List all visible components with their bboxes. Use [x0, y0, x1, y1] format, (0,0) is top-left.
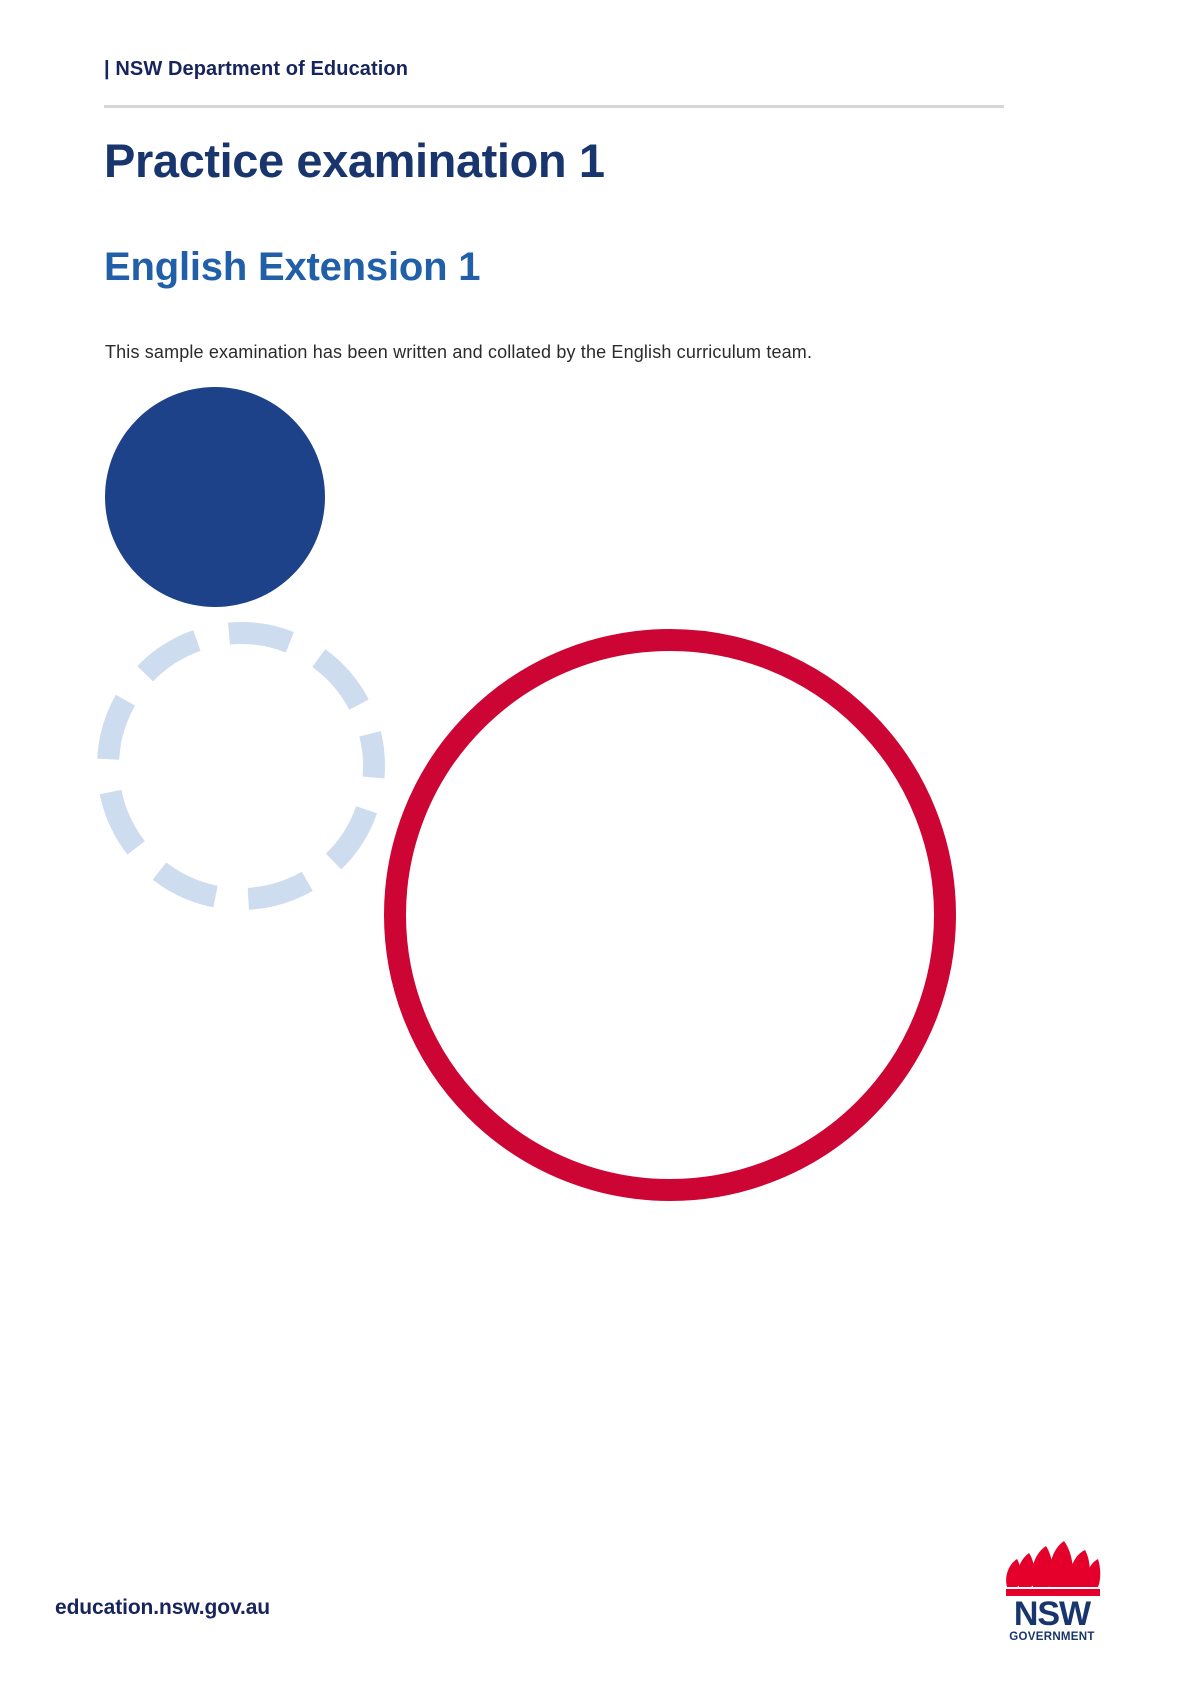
masthead: | NSW Department of Education: [104, 58, 1004, 81]
nsw-government-logo: NSW GOVERNMENT: [1002, 1533, 1102, 1645]
document-page: | NSW Department of Education Practice e…: [0, 0, 1200, 1698]
navy-filled-circle: [105, 387, 325, 607]
page-title: Practice examination 1: [104, 133, 605, 188]
page-subtitle: English Extension 1: [104, 245, 480, 290]
logo-wordmark-nsw: NSW: [1014, 1595, 1092, 1633]
logo-wordmark-government: GOVERNMENT: [1009, 1631, 1094, 1643]
crimson-outline-circle: [395, 640, 945, 1190]
header-divider: [104, 105, 1004, 108]
footer-website-url[interactable]: education.nsw.gov.au: [55, 1596, 270, 1620]
page-description: This sample examination has been written…: [105, 342, 812, 363]
light-blue-dashed-circle: [80, 605, 402, 927]
masthead-label: | NSW Department of Education: [104, 58, 1004, 81]
waratah-icon: [1006, 1541, 1100, 1596]
